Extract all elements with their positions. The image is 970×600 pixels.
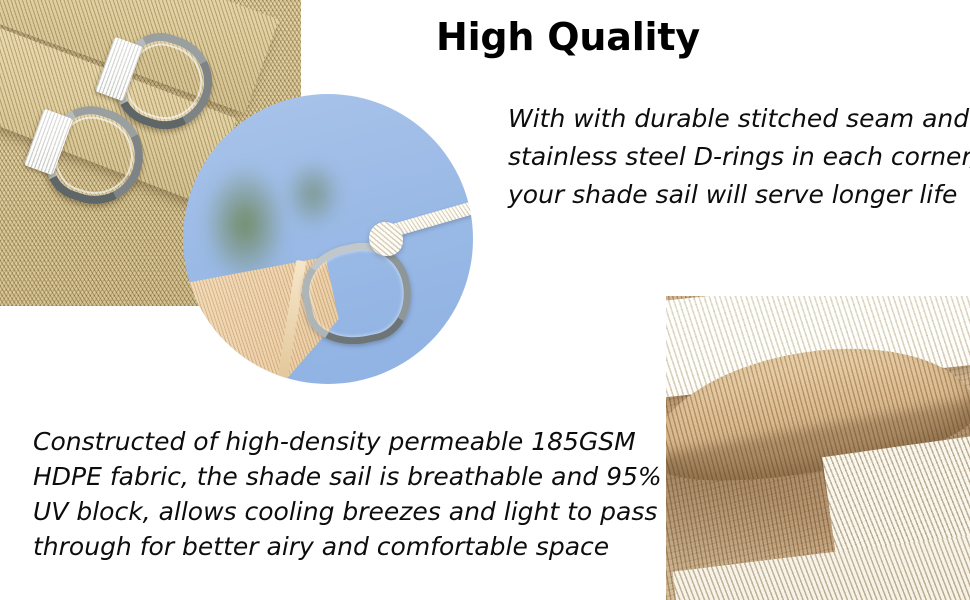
product-feature-banner: High Quality With with durable stitched …	[0, 0, 970, 600]
feature-line: Constructed of high-density permeable 18…	[33, 424, 633, 459]
feature-line: your shade sail will serve longer life	[508, 176, 960, 214]
folded-hdpe-mesh-fabric-photo	[666, 296, 970, 600]
feature-description-right: With with durable stitched seam and stai…	[508, 100, 960, 214]
feature-line: stainless steel D-rings in each corner,	[508, 138, 960, 176]
sail-corner-rope-circle-photo	[183, 94, 473, 384]
feature-line: UV block, allows cooling breezes and lig…	[33, 494, 633, 529]
rope-knot	[369, 222, 403, 256]
page-title: High Quality	[436, 14, 700, 60]
feature-line: through for better airy and comfortable …	[33, 529, 633, 564]
feature-description-left: Constructed of high-density permeable 18…	[33, 424, 633, 564]
feature-line: HDPE fabric, the shade sail is breathabl…	[33, 459, 633, 494]
feature-line: With with durable stitched seam and	[508, 100, 960, 138]
